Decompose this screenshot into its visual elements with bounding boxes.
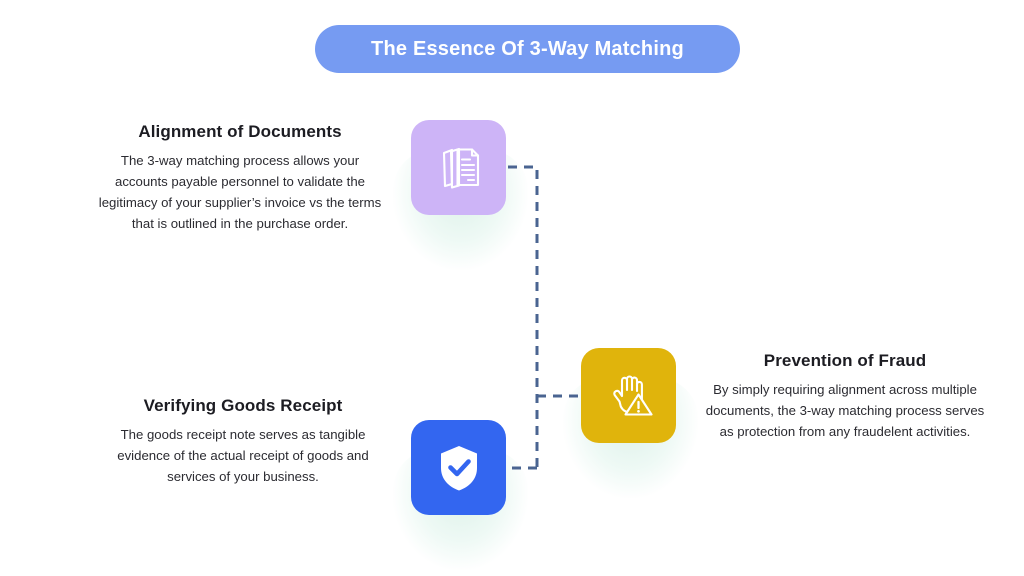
- heading-prevention-of-fraud: Prevention of Fraud: [700, 351, 990, 371]
- connector-lines: [0, 0, 1024, 576]
- shield-check-icon: [433, 440, 485, 496]
- text-block-alignment-of-documents: Alignment of Documents The 3-way matchin…: [95, 122, 385, 234]
- hand-warning-icon: [601, 368, 657, 424]
- icon-tile-warning[interactable]: [581, 348, 676, 443]
- connector-documents-to-spine: [508, 167, 537, 468]
- icon-tile-documents[interactable]: [411, 120, 506, 215]
- body-alignment-of-documents: The 3-way matching process allows your a…: [95, 151, 385, 234]
- infographic-canvas: The Essence Of 3-Way Matching: [0, 0, 1024, 576]
- body-prevention-of-fraud: By simply requiring alignment across mul…: [700, 380, 990, 443]
- body-verifying-goods-receipt: The goods receipt note serves as tangibl…: [98, 425, 388, 488]
- heading-alignment-of-documents: Alignment of Documents: [95, 122, 385, 142]
- documents-stack-icon: [431, 140, 487, 196]
- heading-verifying-goods-receipt: Verifying Goods Receipt: [98, 396, 388, 416]
- text-block-prevention-of-fraud: Prevention of Fraud By simply requiring …: [700, 351, 990, 443]
- icon-tile-shield[interactable]: [411, 420, 506, 515]
- title-banner: The Essence Of 3-Way Matching: [315, 25, 740, 73]
- page-title: The Essence Of 3-Way Matching: [371, 38, 684, 61]
- text-block-verifying-goods-receipt: Verifying Goods Receipt The goods receip…: [98, 396, 388, 488]
